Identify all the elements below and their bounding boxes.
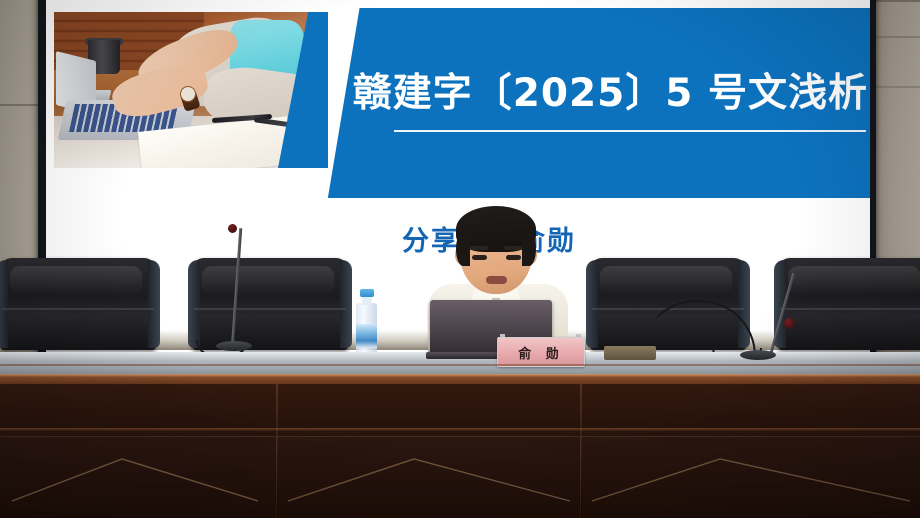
chair-rim-left [188, 260, 200, 348]
right-wall-seam-mid [876, 36, 920, 38]
presenter-nameplate: 俞 勋 [497, 337, 585, 367]
chair-seam [780, 308, 920, 310]
presenter-hair-left [456, 232, 470, 266]
microphone-right-pad [604, 346, 656, 360]
chair-highlight [202, 266, 334, 294]
microphone-left-base [216, 341, 252, 351]
chair-seam [194, 308, 346, 310]
water-bottle-cap [360, 289, 374, 297]
table-panel-chevron [10, 451, 260, 511]
slide-title-underline [394, 130, 866, 132]
slide-photo-laptop-typing [54, 12, 328, 168]
table-inlay-stripe [0, 364, 920, 366]
right-wall-seam-top [876, 0, 920, 2]
presenter-eyebrow-right [504, 246, 522, 250]
chair-highlight [10, 266, 142, 294]
water-bottle-label [356, 324, 377, 348]
conference-room-scene: 赣建字〔2025〕5 号文浅析 分享人：俞勋 [0, 0, 920, 518]
presenter-eye-right [506, 255, 521, 260]
table-seam-right [580, 384, 582, 518]
chair-rim-right [340, 260, 352, 348]
nameplate-text: 俞 勋 [518, 343, 564, 362]
chair-rim-left [0, 260, 8, 348]
table-panel-center [278, 436, 581, 518]
table-panel-chevron [286, 451, 572, 511]
table-panel-right [582, 436, 920, 518]
chair-highlight [600, 266, 732, 294]
chair-rim-left [586, 260, 598, 348]
table-band-moulding [0, 428, 920, 431]
table-edge-highlight [0, 374, 920, 377]
table-panel-left [0, 436, 277, 518]
microphone-left-head [228, 224, 237, 233]
presenter-mouth [486, 276, 507, 284]
presenter-hair-right [522, 232, 536, 266]
microphone-right-head [784, 318, 795, 329]
presenter-eye-left [472, 255, 487, 260]
right-wall-seam-low [876, 86, 920, 88]
chair-rim-right [148, 260, 160, 348]
table-panel-chevron [590, 451, 912, 511]
slide-title: 赣建字〔2025〕5 号文浅析 [338, 64, 870, 124]
chair-seam [2, 308, 154, 310]
presenter-eyebrow-left [470, 246, 488, 250]
chair-4 [772, 258, 920, 354]
chair-1 [0, 258, 162, 354]
table-seam-left [276, 384, 278, 518]
table-upper-band [0, 384, 920, 430]
microphone-right-base [740, 350, 776, 360]
chair-highlight [788, 266, 920, 294]
